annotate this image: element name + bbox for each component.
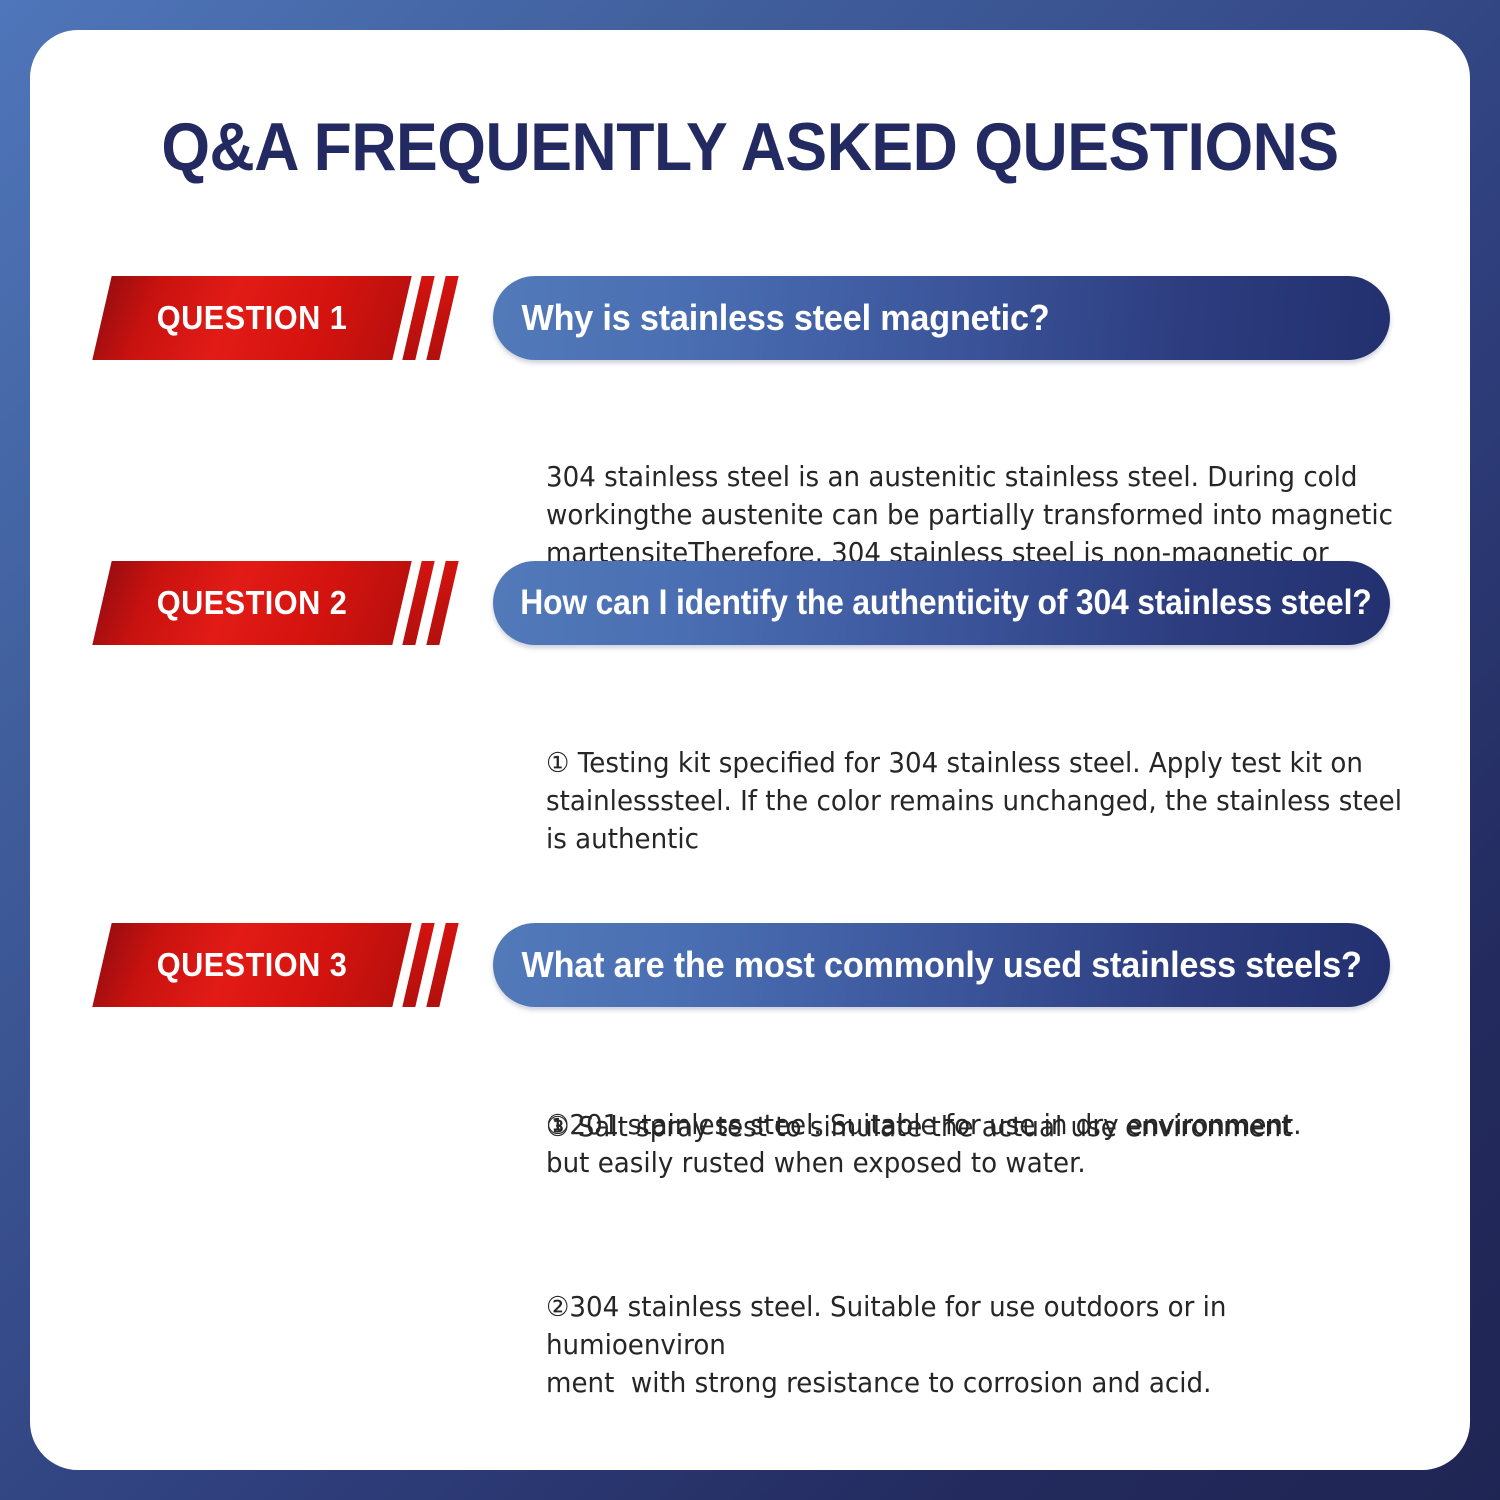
page-title: Q&A FREQUENTLY ASKED QUESTIONS <box>88 108 1413 186</box>
question-header-2: QUESTION 2 How can I identify the authen… <box>30 561 1470 645</box>
question-text-3: What are the most commonly used stainles… <box>493 944 1362 986</box>
question-text-1: Why is stainless steel magnetic? <box>493 297 1050 339</box>
answer-paragraph: ②304 stainless steel. Suitable for use o… <box>546 1288 1411 1402</box>
question-header-3: QUESTION 3 What are the most commonly us… <box>30 923 1470 1007</box>
question-badge-1[interactable]: QUESTION 1 <box>102 276 432 360</box>
faq-card: Q&A FREQUENTLY ASKED QUESTIONS QUESTION … <box>30 30 1470 1470</box>
answer-block-3: ①201 stainless steel. Suitable for use i… <box>546 1030 1411 1470</box>
badge-label-1: QUESTION 1 <box>113 276 392 360</box>
answer-paragraph: ①201 stainless steel. Suitable for use i… <box>546 1106 1411 1182</box>
question-pill-3[interactable]: What are the most commonly used stainles… <box>493 923 1390 1007</box>
badge-label-2: QUESTION 2 <box>113 561 392 645</box>
badge-label-3: QUESTION 3 <box>113 923 392 1007</box>
question-badge-3[interactable]: QUESTION 3 <box>102 923 432 1007</box>
answer-paragraph: ① Testing kit specified for 304 stainles… <box>546 744 1411 858</box>
question-text-2: How can I identify the authenticity of 3… <box>493 583 1372 623</box>
question-header-1: QUESTION 1 Why is stainless steel magnet… <box>30 276 1470 360</box>
question-pill-2[interactable]: How can I identify the authenticity of 3… <box>493 561 1390 645</box>
faq-page: Q&A FREQUENTLY ASKED QUESTIONS QUESTION … <box>0 0 1500 1500</box>
question-pill-1[interactable]: Why is stainless steel magnetic? <box>493 276 1390 360</box>
question-badge-2[interactable]: QUESTION 2 <box>102 561 432 645</box>
